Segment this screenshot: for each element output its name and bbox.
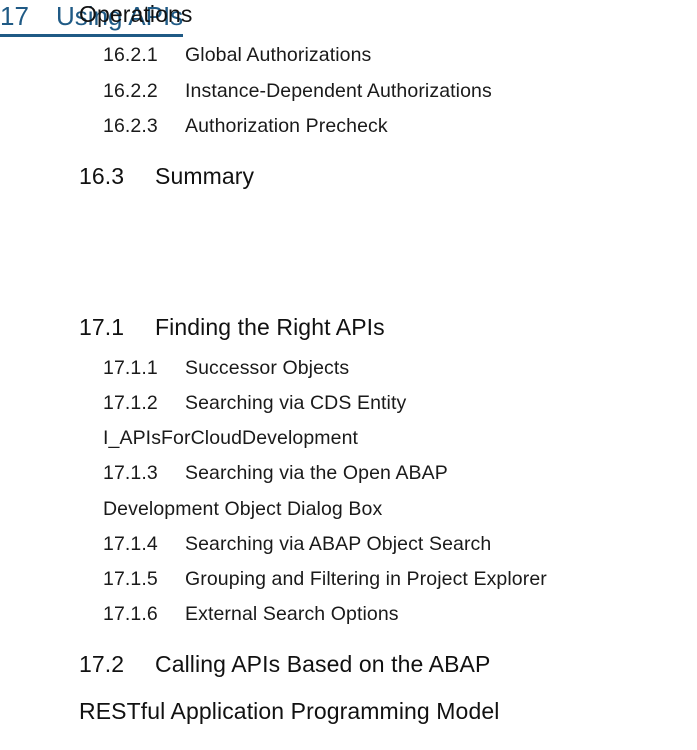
subsection-title-continuation: I_APIsForCloudDevelopment bbox=[103, 426, 358, 450]
subsection-entry-17.1.4[interactable]: 17.1.4Searching via ABAP Object Search bbox=[103, 532, 491, 556]
subsection-entry-17.1.6[interactable]: 17.1.6External Search Options bbox=[103, 602, 399, 626]
subsection-entry-17.1.3[interactable]: 17.1.3Searching via the Open ABAP bbox=[103, 461, 448, 485]
subsection-number: 17.1.3 bbox=[103, 461, 185, 485]
subsection-number: 16.2.3 bbox=[103, 114, 185, 138]
subsection-title: Searching via the Open ABAP bbox=[185, 461, 448, 485]
subsection-number: 17.1.1 bbox=[103, 356, 185, 380]
subsection-title: Searching via CDS Entity bbox=[185, 391, 406, 415]
section-entry-17.1[interactable]: 17.1Finding the Right APIs bbox=[79, 313, 385, 341]
chapter-number: 17 bbox=[0, 0, 56, 32]
subsection-number: 17.1.4 bbox=[103, 532, 185, 556]
section-title: Summary bbox=[155, 162, 254, 190]
section-entry-16.3[interactable]: 16.3Summary bbox=[79, 162, 254, 190]
section-title-continuation: Operations bbox=[79, 0, 193, 28]
subsection-entry-17.1.1[interactable]: 17.1.1Successor Objects bbox=[103, 356, 349, 380]
subsection-title: External Search Options bbox=[185, 602, 399, 626]
section-number: 17.2 bbox=[79, 650, 155, 678]
subsection-title: Global Authorizations bbox=[185, 43, 371, 67]
section-number: 17.1 bbox=[79, 313, 155, 341]
subsection-title: Instance-Dependent Authorizations bbox=[185, 79, 492, 103]
subsection-entry-17.1.2[interactable]: 17.1.2Searching via CDS Entity bbox=[103, 391, 406, 415]
subsection-title: Grouping and Filtering in Project Explor… bbox=[185, 567, 547, 591]
section-entry-17.2[interactable]: 17.2Calling APIs Based on the ABAP bbox=[79, 650, 490, 678]
section-title: Finding the Right APIs bbox=[155, 313, 385, 341]
table-of-contents: Operations16.2.1Global Authorizations16.… bbox=[0, 0, 697, 750]
subsection-number: 17.1.5 bbox=[103, 567, 185, 591]
section-title: Calling APIs Based on the ABAP bbox=[155, 650, 490, 678]
section-number: 16.3 bbox=[79, 162, 155, 190]
subsection-entry-16.2.2[interactable]: 16.2.2Instance-Dependent Authorizations bbox=[103, 79, 492, 103]
subsection-title: Authorization Precheck bbox=[185, 114, 388, 138]
subsection-number: 17.1.6 bbox=[103, 602, 185, 626]
subsection-entry-16.2.1[interactable]: 16.2.1Global Authorizations bbox=[103, 43, 371, 67]
subsection-title: Successor Objects bbox=[185, 356, 349, 380]
subsection-number: 17.1.2 bbox=[103, 391, 185, 415]
subsection-entry-16.2.3[interactable]: 16.2.3Authorization Precheck bbox=[103, 114, 388, 138]
subsection-number: 16.2.2 bbox=[103, 79, 185, 103]
subsection-entry-17.1.5[interactable]: 17.1.5Grouping and Filtering in Project … bbox=[103, 567, 547, 591]
subsection-number: 16.2.1 bbox=[103, 43, 185, 67]
subsection-title: Searching via ABAP Object Search bbox=[185, 532, 491, 556]
subsection-title-continuation: Development Object Dialog Box bbox=[103, 497, 382, 521]
section-title-continuation: RESTful Application Programming Model bbox=[79, 697, 499, 725]
